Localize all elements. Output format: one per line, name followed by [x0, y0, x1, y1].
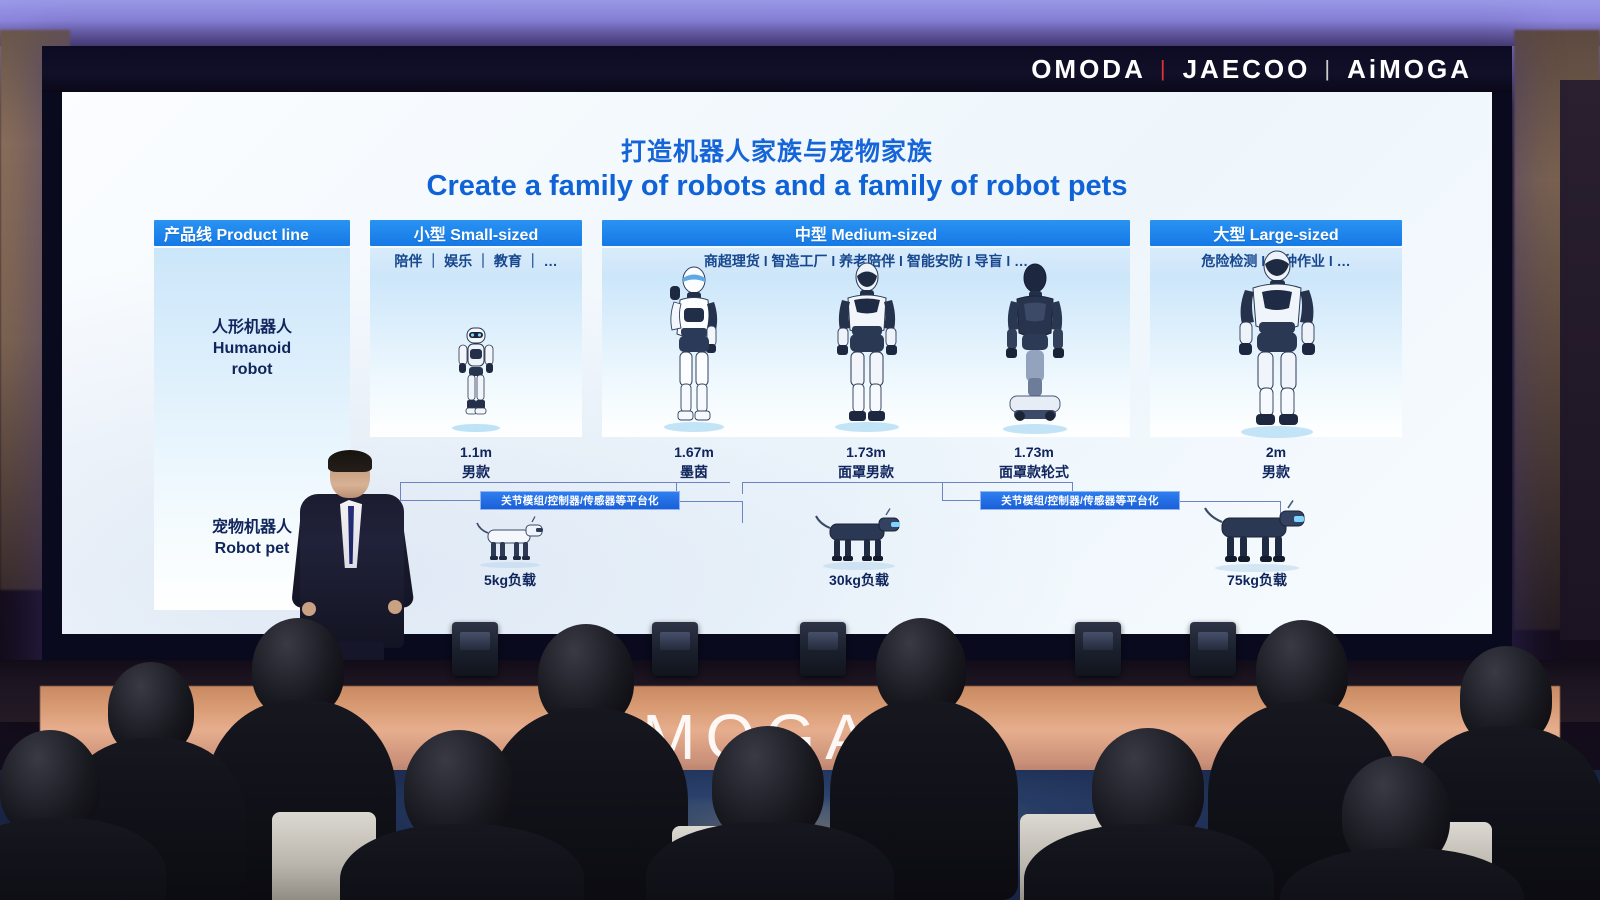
robot-pet-small — [464, 516, 556, 568]
humanoid-robot-small — [444, 312, 508, 432]
caption-humanoid-wheeled: 1.73m 面罩款轮式 — [954, 442, 1114, 483]
caption-humanoid-small: 1.1m 男款 — [396, 442, 556, 483]
brand-logo-omoda: OMODA — [1017, 54, 1160, 85]
wall-right-inner — [1560, 80, 1600, 640]
caption-humanoid-medium-b: 1.73m 面罩男款 — [786, 442, 946, 483]
robot-pet-medium — [804, 508, 914, 570]
column-header-small: 小型 Small-sized — [370, 220, 582, 246]
column-subheader-small: 陪伴 ｜ 娱乐 ｜ 教育 ｜ … — [370, 248, 582, 274]
connector-right-bottom — [942, 500, 980, 501]
connector-right-drop-1 — [742, 482, 743, 494]
row-label-humanoid-en1: Humanoid — [154, 339, 350, 360]
humanoid-medium-b-icon — [824, 260, 910, 432]
connector-right-drop-2 — [942, 482, 943, 500]
caption-variant-small: 男款 — [396, 462, 556, 482]
platform-banner-right: 关节模组/控制器/传感器等平台化 — [980, 491, 1180, 510]
caption-height-small: 1.1m — [396, 442, 556, 462]
humanoid-robot-medium-a — [654, 264, 734, 432]
brand-logo-aimoga: AiMOGA — [1333, 54, 1486, 85]
connector-right-horizontal — [742, 482, 1072, 483]
robot-pet-large — [1194, 500, 1320, 572]
presentation-slide: 打造机器人家族与宠物家族 Create a family of robots a… — [62, 92, 1492, 634]
presenter-hair — [328, 450, 372, 472]
humanoid-medium-a-icon — [654, 264, 734, 432]
row-label-humanoid-en2: robot — [154, 360, 350, 381]
humanoid-large-icon — [1229, 248, 1325, 438]
caption-variant-large: 男款 — [1196, 462, 1356, 482]
brand-separator-2: | — [1324, 56, 1333, 82]
caption-pet-large: 75kg负载 — [1182, 570, 1332, 590]
brand-logo-jaecoo: JAECOO — [1169, 54, 1325, 85]
caption-height-wheeled: 1.73m — [954, 442, 1114, 462]
humanoid-wheeled-icon — [992, 258, 1078, 434]
caption-variant-medium-a: 墨茵 — [614, 462, 774, 482]
row-label-humanoid: 人形机器人 Humanoid robot — [154, 318, 350, 380]
caption-height-medium-b: 1.73m — [786, 442, 946, 462]
row-label-humanoid-cn: 人形机器人 — [154, 318, 350, 339]
humanoid-small-icon — [444, 312, 508, 432]
column-header-product-line: 产品线 Product line — [154, 220, 350, 246]
caption-variant-wheeled: 面罩款轮式 — [954, 462, 1114, 482]
humanoid-robot-medium-b — [824, 260, 910, 432]
brand-logos: OMODA | JAECOO | AiMOGA — [1017, 54, 1486, 85]
slide-title-english: Create a family of robots and a family o… — [62, 170, 1492, 203]
robot-dog-large-icon — [1194, 500, 1320, 572]
caption-height-large: 2m — [1196, 442, 1356, 462]
connector-left-tail-drop — [742, 501, 743, 523]
caption-height-medium-a: 1.67m — [614, 442, 774, 462]
humanoid-robot-large — [1229, 248, 1325, 438]
caption-pet-small: 5kg负载 — [435, 570, 585, 590]
column-header-medium: 中型 Medium-sized — [602, 220, 1130, 246]
robot-dog-medium-icon — [804, 508, 914, 570]
connector-left-tail — [680, 501, 742, 502]
caption-humanoid-large: 2m 男款 — [1196, 442, 1356, 483]
robot-dog-small-icon — [464, 516, 556, 568]
audience — [0, 600, 1600, 900]
connector-left-bottom — [400, 500, 480, 501]
slide-title-chinese: 打造机器人家族与宠物家族 — [62, 132, 1492, 168]
caption-humanoid-medium-a: 1.67m 墨茵 — [614, 442, 774, 483]
column-header-large: 大型 Large-sized — [1150, 220, 1402, 246]
caption-pet-medium: 30kg负载 — [784, 570, 934, 590]
ceiling-light-wash — [0, 0, 1600, 46]
humanoid-robot-medium-wheeled — [992, 258, 1078, 434]
matrix-column-headers: 产品线 Product line 小型 Small-sized 中型 Mediu… — [154, 220, 1402, 246]
brand-bar: OMODA | JAECOO | AiMOGA — [42, 46, 1512, 92]
brand-separator-1: | — [1160, 56, 1169, 82]
platform-banner-left: 关节模组/控制器/传感器等平台化 — [480, 491, 680, 510]
caption-variant-medium-b: 面罩男款 — [786, 462, 946, 482]
connector-left-horizontal — [400, 482, 730, 483]
